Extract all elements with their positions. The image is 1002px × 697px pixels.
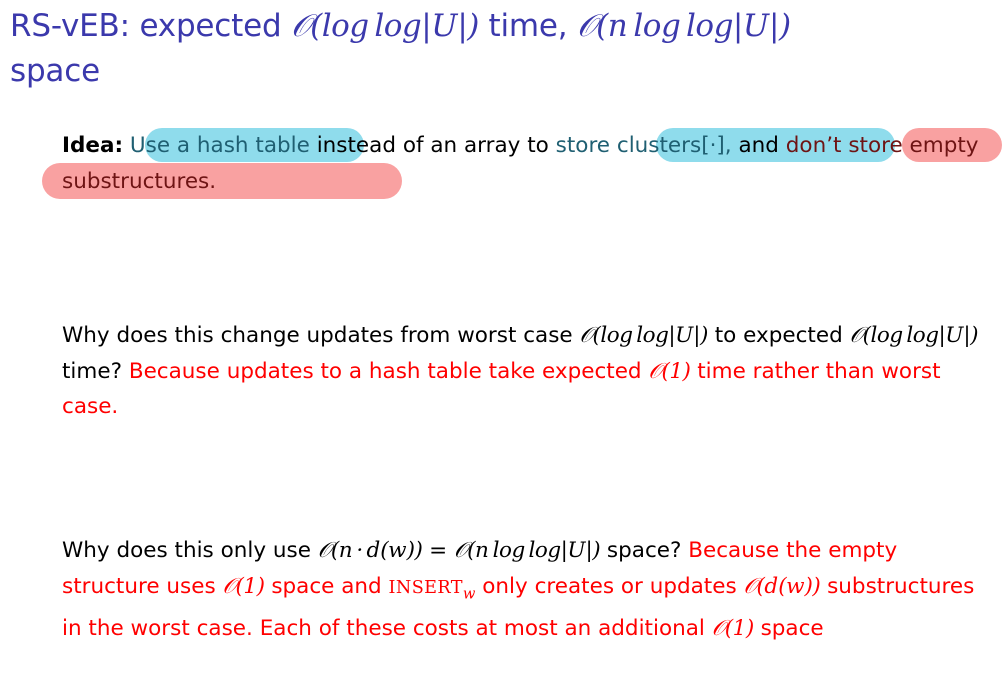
q1-math-worst-case-loglog: 𝒪(log log|U|) [580, 323, 708, 348]
q2-math-o1-additional: 𝒪(1) [712, 616, 754, 641]
q1-prompt-part-c: time? [62, 359, 129, 384]
title-math-loglog-time: 𝒪(log log|U|) [291, 8, 479, 44]
idea-lead-label: Idea: [62, 133, 123, 158]
q2-prompt-part-b: space? [600, 538, 688, 563]
question-space-paragraph: Why does this only use 𝒪(n · d(w)) = 𝒪(n… [62, 533, 992, 647]
q2-math-n-times-dw: 𝒪(n · d(w)) [318, 538, 423, 563]
q2-math-o-dw: 𝒪(d(w)) [743, 574, 820, 599]
q2-insert-operation-label: INSERT [389, 578, 463, 598]
title-math-nloglog-space: 𝒪(n log log|U|) [577, 8, 790, 44]
title-text-line2: space [10, 53, 100, 89]
idea-paragraph: Idea: Use a hash table instead of an arr… [62, 128, 992, 199]
q2-answer-part-e: space [754, 616, 824, 641]
idea-highlighted-dont: don’t [786, 133, 842, 158]
q1-prompt-part-b: to expected [708, 323, 850, 348]
q2-math-n-loglog: 𝒪(n log log|U|) [454, 538, 600, 563]
q2-insert-subscript-w: w [463, 585, 476, 602]
q2-prompt-part-a: Why does this only use [62, 538, 318, 563]
idea-highlighted-hash-table: Use a hash table [130, 133, 310, 158]
idea-plain-instead-of-array: instead of an array to [317, 133, 549, 158]
q2-answer-part-b: space and [265, 574, 389, 599]
q1-answer-part-a: Because updates to a hash table take exp… [129, 359, 649, 384]
q2-math-o1-empty: 𝒪(1) [223, 574, 265, 599]
q1-answer: Because updates to a hash table take exp… [62, 359, 941, 420]
title-text-mid: time, [479, 8, 577, 44]
q1-prompt-part-a: Why does this change updates from worst … [62, 323, 580, 348]
question-updates-paragraph: Why does this change updates from worst … [62, 318, 997, 425]
idea-plain-and: and [738, 133, 778, 158]
idea-highlighted-store-clusters: store clusters[·], [556, 133, 732, 158]
page-title: RS-vEB: expected 𝒪(log log|U|) time, 𝒪(n… [10, 4, 995, 94]
q2-prompt-equals: = [422, 538, 454, 563]
q1-math-expected-o1: 𝒪(1) [648, 359, 690, 384]
q2-answer-part-c: only creates or updates [475, 574, 743, 599]
title-text-pre: RS-vEB: expected [10, 8, 291, 44]
q1-math-expected-loglog: 𝒪(log log|U|) [850, 323, 978, 348]
